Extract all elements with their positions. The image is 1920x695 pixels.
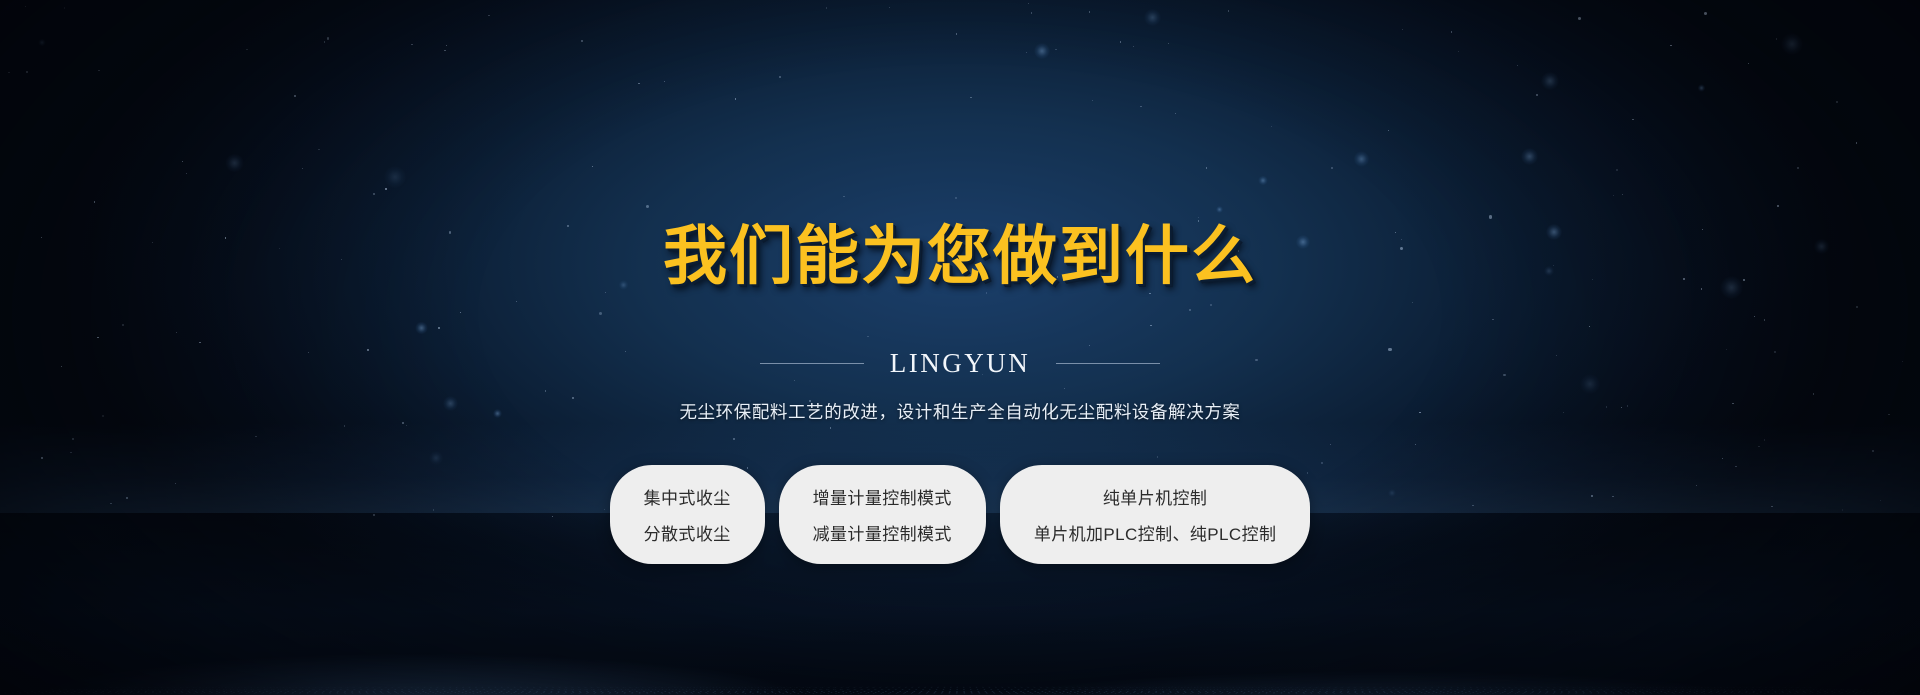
card-line-2: 单片机加PLC控制、纯PLC控制 [1034,520,1277,545]
card-line-1: 集中式收尘 [644,484,731,509]
feature-card-control-system[interactable]: 纯单片机控制 单片机加PLC控制、纯PLC控制 [1000,465,1311,564]
banner-description: 无尘环保配料工艺的改进，设计和生产全自动化无尘配料设备解决方案 [679,399,1240,424]
card-line-2: 减量计量控制模式 [813,520,952,545]
hero-banner: 我们能为您做到什么 LINGYUN 无尘环保配料工艺的改进，设计和生产全自动化无… [0,0,1920,695]
subtitle-row: LINGYUN [760,348,1160,379]
feature-card-list: 集中式收尘 分散式收尘 增量计量控制模式 减量计量控制模式 纯单片机控制 单片机… [610,465,1311,564]
card-line-1: 增量计量控制模式 [813,484,952,509]
feature-card-metering-mode[interactable]: 增量计量控制模式 减量计量控制模式 [779,465,986,564]
brand-subtitle: LINGYUN [890,348,1030,379]
divider-right [1056,363,1160,364]
page-title: 我们能为您做到什么 [663,225,1257,289]
card-line-2: 分散式收尘 [644,520,731,545]
feature-card-dust-collection[interactable]: 集中式收尘 分散式收尘 [610,465,765,564]
card-line-1: 纯单片机控制 [1103,484,1207,509]
banner-content: 我们能为您做到什么 LINGYUN 无尘环保配料工艺的改进，设计和生产全自动化无… [0,0,1920,695]
divider-left [760,363,864,364]
